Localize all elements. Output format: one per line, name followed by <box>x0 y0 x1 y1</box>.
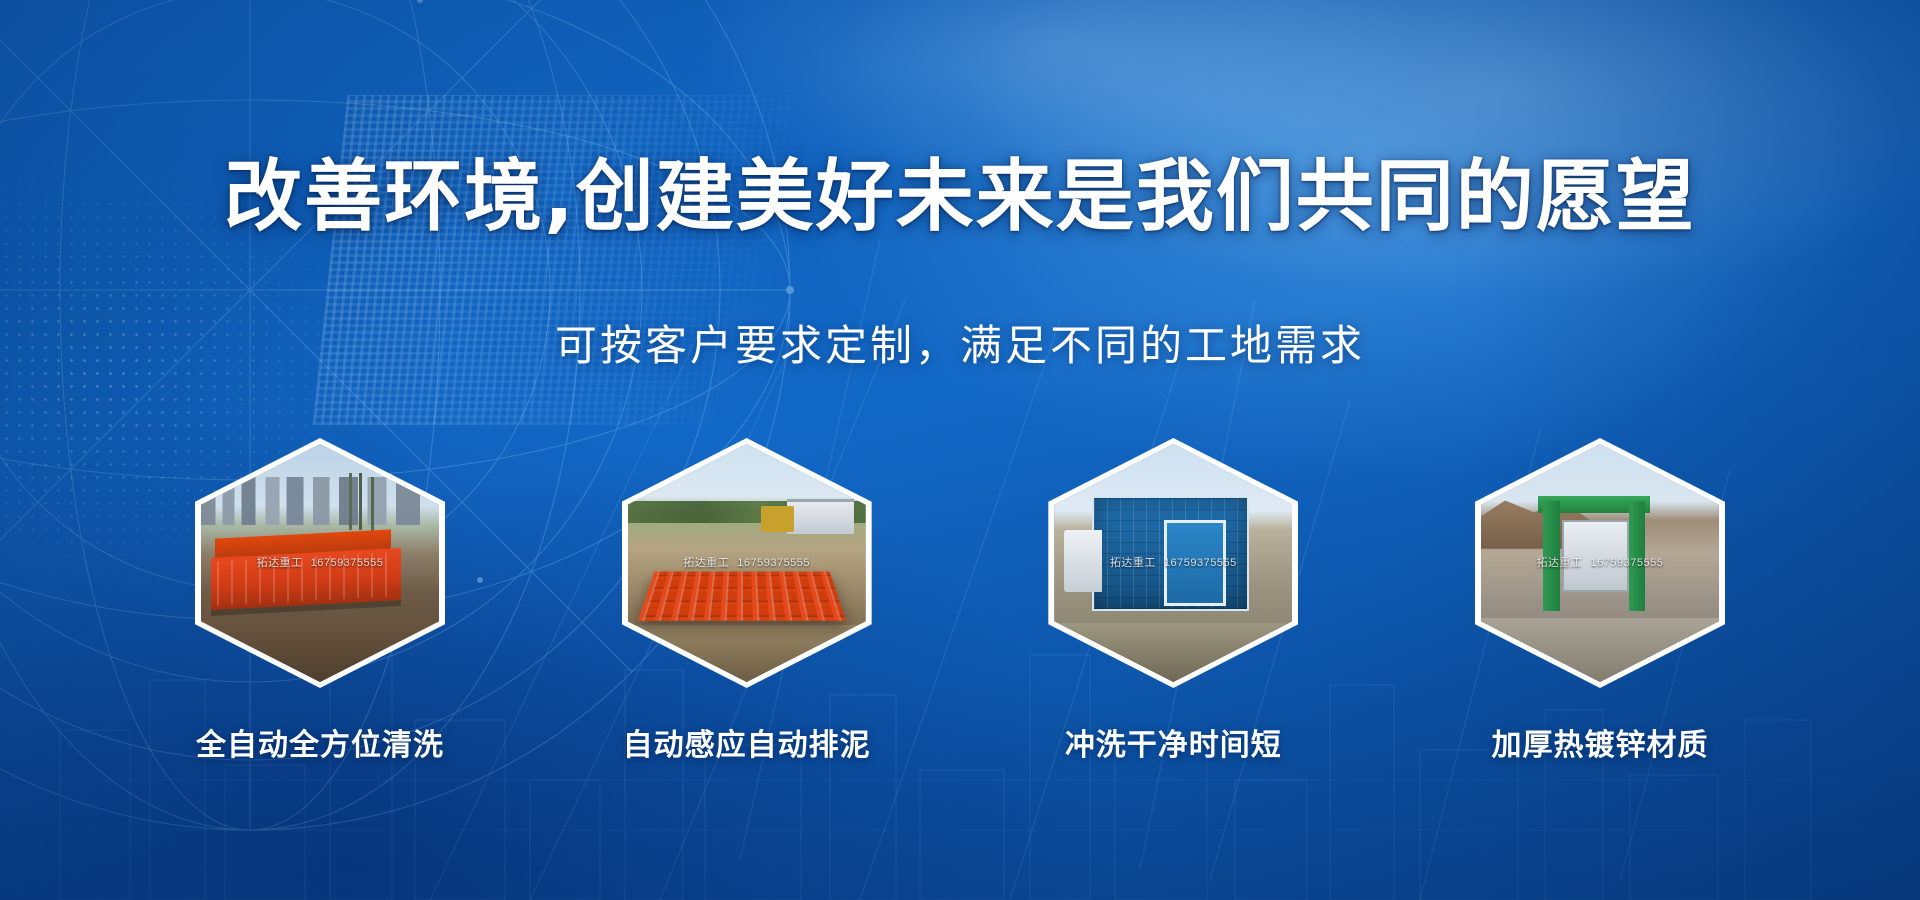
feature-caption: 自动感应自动排泥 <box>623 720 871 764</box>
feature-caption: 冲洗干净时间短 <box>1065 720 1282 764</box>
feature-caption: 加厚热镀锌材质 <box>1491 720 1708 764</box>
product-photo-fast-clean-tunnel <box>1054 444 1292 682</box>
hexagon-photo-clip: 拓达重工16759375555 <box>1481 444 1719 682</box>
subtitle-text: 可按客户要求定制，满足不同的工地需求 <box>0 325 1920 367</box>
hexagon-photo-clip: 拓达重工16759375555 <box>201 444 439 682</box>
product-photo-full-auto-wash <box>201 444 439 682</box>
binary-data-texture <box>313 95 868 425</box>
feature-item[interactable]: 拓达重工16759375555 冲洗干净时间短 <box>1033 438 1313 764</box>
feature-caption: 全自动全方位清洗 <box>196 720 444 764</box>
feature-list: 拓达重工16759375555 全自动全方位清洗 拓达重工16759375555 <box>180 438 1740 764</box>
hexagon-photo-frame[interactable]: 拓达重工16759375555 <box>1048 438 1298 688</box>
product-photo-galvanized-gantry <box>1481 444 1719 682</box>
promo-banner: 改善环境,创建美好未来是我们共同的愿望 可按客户要求定制，满足不同的工地需求 拓… <box>0 0 1920 900</box>
headline-title: 改善环境,创建美好未来是我们共同的愿望 <box>0 158 1920 236</box>
hexagon-photo-clip: 拓达重工16759375555 <box>1054 444 1292 682</box>
feature-item[interactable]: 拓达重工16759375555 全自动全方位清洗 <box>180 438 460 764</box>
product-photo-auto-sensing-desilting <box>628 444 866 682</box>
hexagon-photo-frame[interactable]: 拓达重工16759375555 <box>622 438 872 688</box>
feature-item[interactable]: 拓达重工16759375555 自动感应自动排泥 <box>607 438 887 764</box>
hexagon-photo-frame[interactable]: 拓达重工16759375555 <box>1475 438 1725 688</box>
hexagon-photo-frame[interactable]: 拓达重工16759375555 <box>195 438 445 688</box>
feature-item[interactable]: 拓达重工16759375555 加厚热镀锌材质 <box>1460 438 1740 764</box>
hexagon-photo-clip: 拓达重工16759375555 <box>628 444 866 682</box>
